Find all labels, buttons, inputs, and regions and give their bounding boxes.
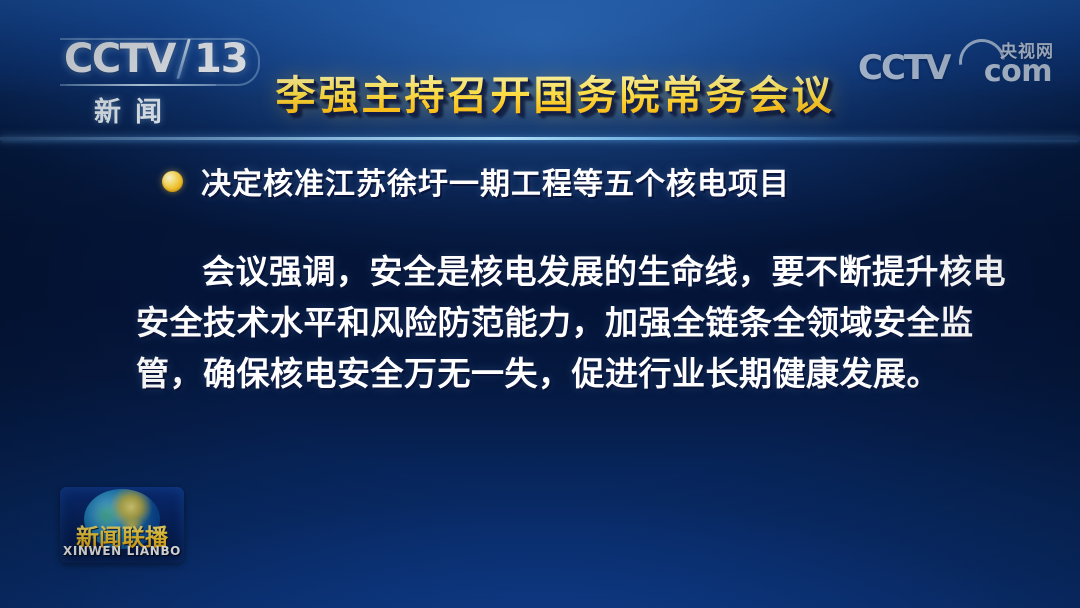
program-bug-xinwen-lianbo: 新闻联播 XINWEN LIANBO [60,487,184,563]
body-line-1: 会议强调，安全是核电发展的生命线，要不断提升核电 [136,246,952,297]
cctv-wordmark: CCTV [64,39,175,79]
header-divider-line [0,137,1080,140]
cctv13-divider-slash [176,39,190,79]
body-copy: 会议强调，安全是核电发展的生命线，要不断提升核电 安全技术水平和风险防范能力，加… [136,246,952,399]
subheadline-text: 决定核准江苏徐圩一期工程等五个核电项目 [201,159,790,203]
bullet-point-icon [162,171,183,192]
body-line-2: 安全技术水平和风险防范能力，加强全链条全领域安全监 [136,297,952,348]
body-line-3: 管，确保核电安全万无一失，促进行业长期健康发展。 [136,348,952,399]
cctv13-channel-number: 13 [194,39,248,79]
headline-title: 李强主持召开国务院常务会议 [0,74,1080,118]
subheadline-row: 决定核准江苏徐圩一期工程等五个核电项目 [162,159,790,203]
broadcast-screen: CCTV 13 新闻 CCTV 央视网 com 李强主持召开国务院常务会议 决定… [0,0,1080,608]
program-bug-pinyin-title: XINWEN LIANBO [60,544,184,558]
